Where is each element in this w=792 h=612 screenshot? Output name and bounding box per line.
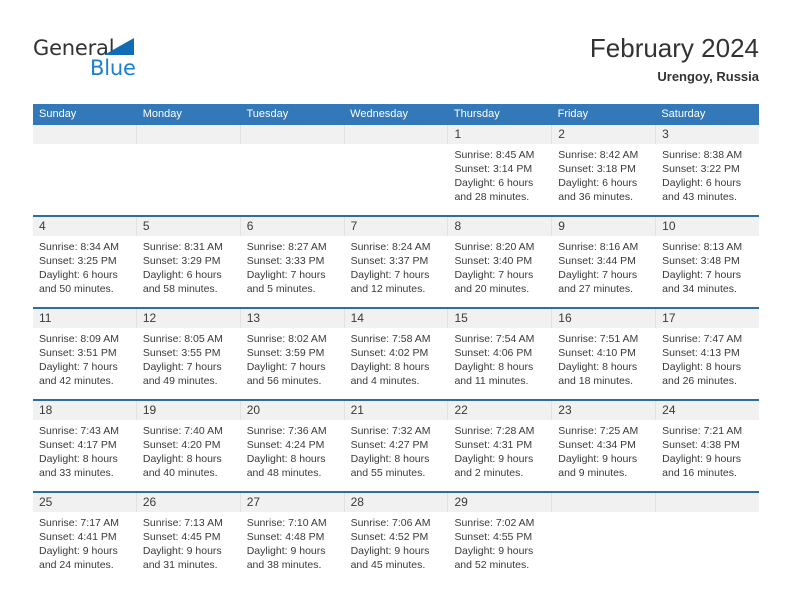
- day-number[interactable]: 2: [552, 125, 656, 144]
- day-detail-band: Sunrise: 7:43 AMSunset: 4:17 PMDaylight:…: [33, 420, 759, 491]
- weekday-header-wednesday: Wednesday: [344, 104, 448, 125]
- day-cell[interactable]: Sunrise: 7:06 AMSunset: 4:52 PMDaylight:…: [345, 512, 449, 583]
- day-detail-line: Daylight: 7 hours: [558, 268, 650, 282]
- day-detail-line: Sunrise: 8:13 AM: [662, 240, 754, 254]
- day-detail-line: Sunrise: 7:28 AM: [454, 424, 546, 438]
- day-detail-line: Sunrise: 7:54 AM: [454, 332, 546, 346]
- day-cell[interactable]: Sunrise: 8:38 AMSunset: 3:22 PMDaylight:…: [656, 144, 759, 215]
- day-number[interactable]: 14: [345, 309, 449, 328]
- day-number[interactable]: 12: [137, 309, 241, 328]
- day-detail-line: Daylight: 8 hours: [558, 360, 650, 374]
- weekday-header-thursday: Thursday: [448, 104, 552, 125]
- day-detail-line: and 33 minutes.: [39, 466, 131, 480]
- day-detail-band: Sunrise: 7:17 AMSunset: 4:41 PMDaylight:…: [33, 512, 759, 583]
- day-detail-line: and 12 minutes.: [351, 282, 443, 296]
- day-detail-line: and 50 minutes.: [39, 282, 131, 296]
- day-detail-line: and 16 minutes.: [662, 466, 754, 480]
- day-detail-line: Daylight: 7 hours: [454, 268, 546, 282]
- day-detail-line: and 2 minutes.: [454, 466, 546, 480]
- calendar-week-row: 123Sunrise: 8:45 AMSunset: 3:14 PMDaylig…: [33, 125, 759, 215]
- day-detail-line: Daylight: 7 hours: [247, 268, 339, 282]
- day-detail-line: Sunset: 3:40 PM: [454, 254, 546, 268]
- day-detail-line: Sunset: 4:48 PM: [247, 530, 339, 544]
- calendar-week-row: 18192021222324Sunrise: 7:43 AMSunset: 4:…: [33, 399, 759, 491]
- day-detail-line: Sunset: 3:59 PM: [247, 346, 339, 360]
- day-detail-line: Sunset: 3:48 PM: [662, 254, 754, 268]
- day-detail-line: Sunrise: 7:47 AM: [662, 332, 754, 346]
- day-detail-line: Daylight: 9 hours: [454, 544, 546, 558]
- day-cell[interactable]: Sunrise: 8:42 AMSunset: 3:18 PMDaylight:…: [552, 144, 656, 215]
- day-cell[interactable]: Sunrise: 7:32 AMSunset: 4:27 PMDaylight:…: [345, 420, 449, 491]
- day-number[interactable]: 29: [448, 493, 552, 512]
- day-number-band: 2526272829: [33, 493, 759, 512]
- day-detail-line: Daylight: 7 hours: [143, 360, 235, 374]
- day-cell-empty: [345, 144, 449, 215]
- day-detail-line: Daylight: 8 hours: [454, 360, 546, 374]
- day-number[interactable]: 27: [241, 493, 345, 512]
- day-detail-line: and 36 minutes.: [558, 190, 650, 204]
- day-cell[interactable]: Sunrise: 8:45 AMSunset: 3:14 PMDaylight:…: [448, 144, 552, 215]
- day-detail-line: and 24 minutes.: [39, 558, 131, 572]
- logo-triangle-icon: [104, 38, 134, 55]
- day-number[interactable]: 21: [345, 401, 449, 420]
- day-detail-line: Sunrise: 7:43 AM: [39, 424, 131, 438]
- day-number-band: 45678910: [33, 217, 759, 236]
- day-detail-line: Sunrise: 8:16 AM: [558, 240, 650, 254]
- day-cell[interactable]: Sunrise: 7:02 AMSunset: 4:55 PMDaylight:…: [448, 512, 552, 583]
- day-number[interactable]: 7: [345, 217, 449, 236]
- day-number[interactable]: 19: [137, 401, 241, 420]
- day-detail-line: and 11 minutes.: [454, 374, 546, 388]
- day-detail-line: and 56 minutes.: [247, 374, 339, 388]
- day-number[interactable]: 9: [552, 217, 656, 236]
- day-detail-line: Daylight: 9 hours: [247, 544, 339, 558]
- day-number-empty: [656, 493, 759, 512]
- day-cell[interactable]: Sunrise: 7:51 AMSunset: 4:10 PMDaylight:…: [552, 328, 656, 399]
- day-number-empty: [345, 125, 449, 144]
- day-detail-line: Daylight: 7 hours: [662, 268, 754, 282]
- day-detail-line: Sunrise: 7:51 AM: [558, 332, 650, 346]
- day-detail-line: Sunset: 3:29 PM: [143, 254, 235, 268]
- weekday-header-row: SundayMondayTuesdayWednesdayThursdayFrid…: [33, 104, 759, 125]
- day-number[interactable]: 25: [33, 493, 137, 512]
- day-detail-band: Sunrise: 8:45 AMSunset: 3:14 PMDaylight:…: [33, 144, 759, 215]
- calendar-grid: SundayMondayTuesdayWednesdayThursdayFrid…: [33, 104, 759, 583]
- day-number[interactable]: 8: [448, 217, 552, 236]
- day-cell[interactable]: Sunrise: 7:40 AMSunset: 4:20 PMDaylight:…: [137, 420, 241, 491]
- day-detail-line: Sunset: 3:33 PM: [247, 254, 339, 268]
- day-detail-line: and 9 minutes.: [558, 466, 650, 480]
- day-cell-empty: [552, 512, 656, 583]
- day-cell[interactable]: Sunrise: 8:09 AMSunset: 3:51 PMDaylight:…: [33, 328, 137, 399]
- day-detail-line: Sunset: 4:06 PM: [454, 346, 546, 360]
- day-cell[interactable]: Sunrise: 7:25 AMSunset: 4:34 PMDaylight:…: [552, 420, 656, 491]
- day-detail-line: Daylight: 6 hours: [662, 176, 754, 190]
- calendar-week-row: 45678910Sunrise: 8:34 AMSunset: 3:25 PMD…: [33, 215, 759, 307]
- day-number[interactable]: 1: [448, 125, 552, 144]
- day-detail-line: Sunrise: 8:34 AM: [39, 240, 131, 254]
- day-detail-line: Sunset: 4:20 PM: [143, 438, 235, 452]
- day-detail-line: Sunrise: 7:21 AM: [662, 424, 754, 438]
- day-number-empty: [241, 125, 345, 144]
- weekday-header-tuesday: Tuesday: [240, 104, 344, 125]
- day-detail-line: and 34 minutes.: [662, 282, 754, 296]
- day-detail-line: Sunrise: 7:32 AM: [351, 424, 443, 438]
- day-detail-line: Daylight: 8 hours: [247, 452, 339, 466]
- day-detail-line: Sunrise: 8:20 AM: [454, 240, 546, 254]
- day-detail-line: Daylight: 8 hours: [662, 360, 754, 374]
- day-detail-line: and 42 minutes.: [39, 374, 131, 388]
- day-cell[interactable]: Sunrise: 7:21 AMSunset: 4:38 PMDaylight:…: [656, 420, 759, 491]
- day-detail-line: Sunrise: 7:06 AM: [351, 516, 443, 530]
- day-detail-band: Sunrise: 8:34 AMSunset: 3:25 PMDaylight:…: [33, 236, 759, 307]
- day-detail-line: Sunset: 3:18 PM: [558, 162, 650, 176]
- day-detail-line: and 4 minutes.: [351, 374, 443, 388]
- day-detail-line: Daylight: 9 hours: [39, 544, 131, 558]
- day-cell[interactable]: Sunrise: 7:28 AMSunset: 4:31 PMDaylight:…: [448, 420, 552, 491]
- day-detail-line: Sunset: 4:38 PM: [662, 438, 754, 452]
- day-detail-line: and 55 minutes.: [351, 466, 443, 480]
- day-number[interactable]: 6: [241, 217, 345, 236]
- day-detail-line: Sunrise: 7:58 AM: [351, 332, 443, 346]
- day-number-band: 11121314151617: [33, 309, 759, 328]
- day-cell[interactable]: Sunrise: 7:43 AMSunset: 4:17 PMDaylight:…: [33, 420, 137, 491]
- day-number[interactable]: 23: [552, 401, 656, 420]
- day-detail-line: and 43 minutes.: [662, 190, 754, 204]
- day-detail-line: Sunrise: 7:02 AM: [454, 516, 546, 530]
- day-number-band: 18192021222324: [33, 401, 759, 420]
- day-number-empty: [552, 493, 656, 512]
- day-detail-line: Sunrise: 8:24 AM: [351, 240, 443, 254]
- day-detail-line: Sunset: 4:52 PM: [351, 530, 443, 544]
- day-detail-line: and 40 minutes.: [143, 466, 235, 480]
- day-number[interactable]: 16: [552, 309, 656, 328]
- day-detail-line: and 28 minutes.: [454, 190, 546, 204]
- calendar-weeks: 123Sunrise: 8:45 AMSunset: 3:14 PMDaylig…: [33, 125, 759, 583]
- page-subtitle-location: Urengoy, Russia: [590, 67, 759, 87]
- day-detail-line: Sunset: 4:27 PM: [351, 438, 443, 452]
- day-cell-empty: [33, 144, 137, 215]
- day-detail-line: Daylight: 6 hours: [39, 268, 131, 282]
- day-detail-line: and 38 minutes.: [247, 558, 339, 572]
- weekday-header-saturday: Saturday: [655, 104, 759, 125]
- day-number[interactable]: 28: [345, 493, 449, 512]
- day-cell-empty: [137, 144, 241, 215]
- day-cell[interactable]: Sunrise: 8:02 AMSunset: 3:59 PMDaylight:…: [241, 328, 345, 399]
- day-detail-line: Sunset: 4:13 PM: [662, 346, 754, 360]
- day-cell[interactable]: Sunrise: 8:20 AMSunset: 3:40 PMDaylight:…: [448, 236, 552, 307]
- day-detail-line: Sunset: 4:02 PM: [351, 346, 443, 360]
- day-detail-line: Sunrise: 7:36 AM: [247, 424, 339, 438]
- page-header: General Blue February 2024 Urengoy, Russ…: [33, 32, 759, 94]
- day-detail-line: and 5 minutes.: [247, 282, 339, 296]
- day-detail-line: Sunset: 4:55 PM: [454, 530, 546, 544]
- day-detail-line: Sunset: 4:31 PM: [454, 438, 546, 452]
- day-detail-line: Sunrise: 8:27 AM: [247, 240, 339, 254]
- day-number[interactable]: 13: [241, 309, 345, 328]
- day-number[interactable]: 24: [656, 401, 759, 420]
- day-cell[interactable]: Sunrise: 8:24 AMSunset: 3:37 PMDaylight:…: [345, 236, 449, 307]
- day-number[interactable]: 20: [241, 401, 345, 420]
- title-block: February 2024 Urengoy, Russia: [590, 32, 759, 87]
- day-detail-line: Daylight: 8 hours: [351, 452, 443, 466]
- day-detail-line: and 48 minutes.: [247, 466, 339, 480]
- day-detail-line: Sunrise: 8:05 AM: [143, 332, 235, 346]
- day-detail-line: and 58 minutes.: [143, 282, 235, 296]
- day-detail-line: and 26 minutes.: [662, 374, 754, 388]
- day-detail-line: Sunrise: 7:25 AM: [558, 424, 650, 438]
- day-detail-line: Sunset: 4:10 PM: [558, 346, 650, 360]
- day-detail-line: Daylight: 7 hours: [39, 360, 131, 374]
- day-detail-line: Sunrise: 7:10 AM: [247, 516, 339, 530]
- day-detail-line: Daylight: 6 hours: [454, 176, 546, 190]
- day-detail-line: Sunrise: 8:31 AM: [143, 240, 235, 254]
- day-detail-line: Sunset: 3:44 PM: [558, 254, 650, 268]
- day-cell-empty: [241, 144, 345, 215]
- day-number[interactable]: 26: [137, 493, 241, 512]
- day-cell[interactable]: Sunrise: 8:31 AMSunset: 3:29 PMDaylight:…: [137, 236, 241, 307]
- day-number[interactable]: 18: [33, 401, 137, 420]
- day-detail-line: and 31 minutes.: [143, 558, 235, 572]
- day-detail-line: Sunset: 3:22 PM: [662, 162, 754, 176]
- day-number-empty: [33, 125, 137, 144]
- day-cell[interactable]: Sunrise: 7:13 AMSunset: 4:45 PMDaylight:…: [137, 512, 241, 583]
- day-number-empty: [137, 125, 241, 144]
- day-cell[interactable]: Sunrise: 7:17 AMSunset: 4:41 PMDaylight:…: [33, 512, 137, 583]
- weekday-header-friday: Friday: [552, 104, 656, 125]
- day-cell-empty: [656, 512, 759, 583]
- day-detail-line: and 20 minutes.: [454, 282, 546, 296]
- weekday-header-sunday: Sunday: [33, 104, 137, 125]
- day-detail-line: Sunrise: 8:09 AM: [39, 332, 131, 346]
- day-detail-line: Daylight: 9 hours: [662, 452, 754, 466]
- calendar-week-row: 11121314151617Sunrise: 8:09 AMSunset: 3:…: [33, 307, 759, 399]
- day-number-band: 123: [33, 125, 759, 144]
- weekday-header-monday: Monday: [137, 104, 241, 125]
- day-detail-line: Sunset: 4:24 PM: [247, 438, 339, 452]
- day-detail-line: Sunset: 4:17 PM: [39, 438, 131, 452]
- day-number[interactable]: 4: [33, 217, 137, 236]
- day-detail-line: Daylight: 6 hours: [143, 268, 235, 282]
- day-detail-line: Sunset: 3:37 PM: [351, 254, 443, 268]
- day-number[interactable]: 3: [656, 125, 759, 144]
- day-cell[interactable]: Sunrise: 8:13 AMSunset: 3:48 PMDaylight:…: [656, 236, 759, 307]
- day-number[interactable]: 10: [656, 217, 759, 236]
- day-detail-line: Daylight: 9 hours: [143, 544, 235, 558]
- day-detail-line: Daylight: 9 hours: [351, 544, 443, 558]
- day-cell[interactable]: Sunrise: 8:27 AMSunset: 3:33 PMDaylight:…: [241, 236, 345, 307]
- day-detail-line: Sunset: 4:34 PM: [558, 438, 650, 452]
- day-detail-line: and 27 minutes.: [558, 282, 650, 296]
- day-number[interactable]: 22: [448, 401, 552, 420]
- day-detail-line: Daylight: 6 hours: [558, 176, 650, 190]
- day-cell[interactable]: Sunrise: 7:54 AMSunset: 4:06 PMDaylight:…: [448, 328, 552, 399]
- day-detail-line: Sunrise: 8:38 AM: [662, 148, 754, 162]
- day-detail-line: Daylight: 7 hours: [247, 360, 339, 374]
- day-detail-line: Daylight: 8 hours: [143, 452, 235, 466]
- day-detail-line: Sunrise: 7:13 AM: [143, 516, 235, 530]
- day-detail-line: and 52 minutes.: [454, 558, 546, 572]
- day-detail-line: Sunrise: 8:42 AM: [558, 148, 650, 162]
- day-cell[interactable]: Sunrise: 7:36 AMSunset: 4:24 PMDaylight:…: [241, 420, 345, 491]
- day-detail-line: Sunset: 3:14 PM: [454, 162, 546, 176]
- day-detail-line: Sunset: 3:55 PM: [143, 346, 235, 360]
- day-cell[interactable]: Sunrise: 7:10 AMSunset: 4:48 PMDaylight:…: [241, 512, 345, 583]
- day-cell[interactable]: Sunrise: 8:05 AMSunset: 3:55 PMDaylight:…: [137, 328, 241, 399]
- day-detail-line: Daylight: 7 hours: [351, 268, 443, 282]
- day-detail-line: Sunset: 3:25 PM: [39, 254, 131, 268]
- day-detail-line: Sunset: 4:45 PM: [143, 530, 235, 544]
- day-detail-line: Sunset: 3:51 PM: [39, 346, 131, 360]
- logo-text-blue: Blue: [90, 56, 136, 80]
- day-cell[interactable]: Sunrise: 7:58 AMSunset: 4:02 PMDaylight:…: [345, 328, 449, 399]
- day-cell[interactable]: Sunrise: 8:16 AMSunset: 3:44 PMDaylight:…: [552, 236, 656, 307]
- day-detail-line: Sunrise: 7:17 AM: [39, 516, 131, 530]
- page-title: February 2024: [590, 32, 759, 64]
- day-detail-line: Daylight: 8 hours: [351, 360, 443, 374]
- day-number[interactable]: 5: [137, 217, 241, 236]
- day-detail-line: and 18 minutes.: [558, 374, 650, 388]
- day-detail-band: Sunrise: 8:09 AMSunset: 3:51 PMDaylight:…: [33, 328, 759, 399]
- general-blue-logo: General Blue: [33, 36, 183, 82]
- day-detail-line: Sunrise: 8:45 AM: [454, 148, 546, 162]
- day-number[interactable]: 15: [448, 309, 552, 328]
- day-detail-line: Sunrise: 7:40 AM: [143, 424, 235, 438]
- calendar-page: General Blue February 2024 Urengoy, Russ…: [0, 0, 792, 612]
- day-cell[interactable]: Sunrise: 7:47 AMSunset: 4:13 PMDaylight:…: [656, 328, 759, 399]
- day-detail-line: and 45 minutes.: [351, 558, 443, 572]
- day-detail-line: Daylight: 9 hours: [558, 452, 650, 466]
- day-cell[interactable]: Sunrise: 8:34 AMSunset: 3:25 PMDaylight:…: [33, 236, 137, 307]
- day-number[interactable]: 11: [33, 309, 137, 328]
- day-detail-line: Sunset: 4:41 PM: [39, 530, 131, 544]
- day-detail-line: Sunrise: 8:02 AM: [247, 332, 339, 346]
- day-detail-line: and 49 minutes.: [143, 374, 235, 388]
- day-detail-line: Daylight: 9 hours: [454, 452, 546, 466]
- day-detail-line: Daylight: 8 hours: [39, 452, 131, 466]
- day-number[interactable]: 17: [656, 309, 759, 328]
- calendar-week-row: 2526272829Sunrise: 7:17 AMSunset: 4:41 P…: [33, 491, 759, 583]
